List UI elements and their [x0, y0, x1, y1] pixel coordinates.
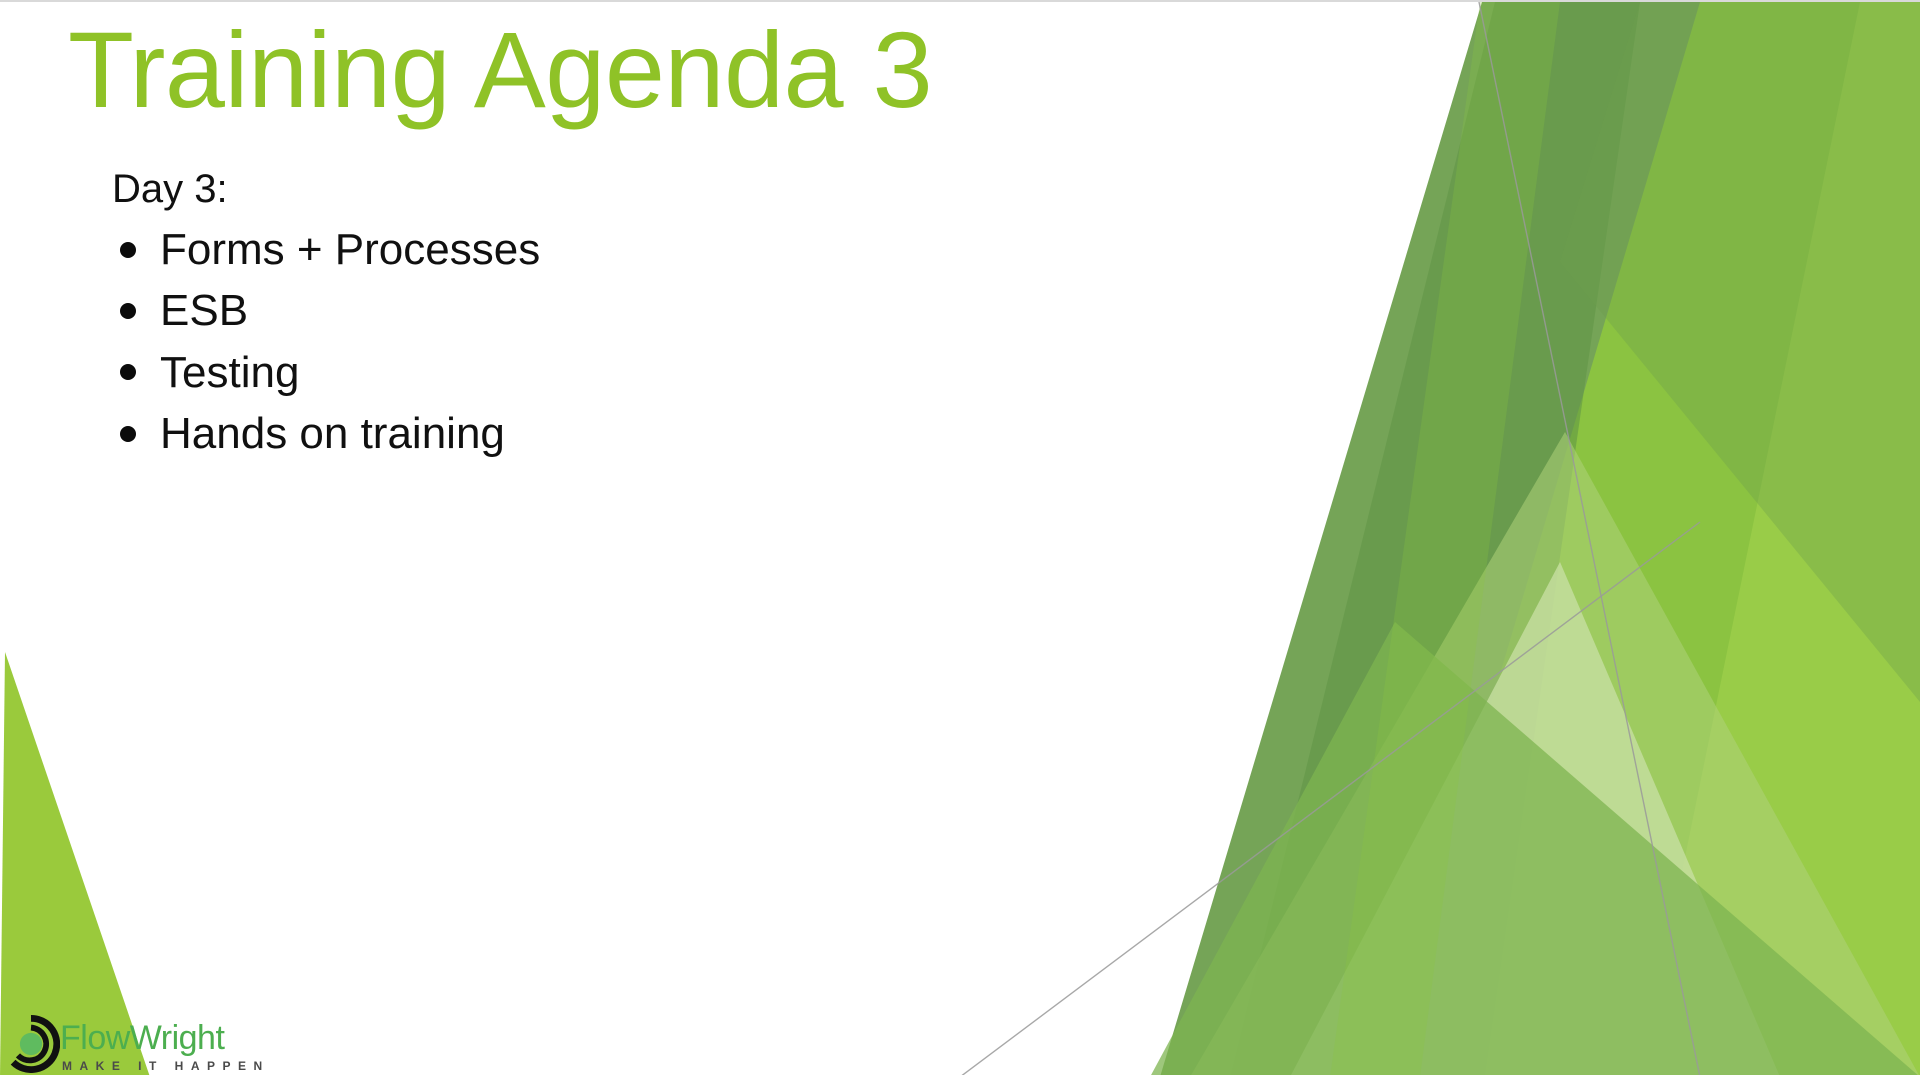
bullet-dot-icon: [120, 426, 136, 442]
list-item: Forms + Processes: [112, 222, 1132, 277]
slide-body: Day 3: Forms + Processes ESB Testing Han…: [112, 165, 1132, 468]
flowwright-logo: FlowWright MAKE IT HAPPEN: [0, 1013, 300, 1075]
list-item: Testing: [112, 345, 1132, 400]
agenda-bullet-list: Forms + Processes ESB Testing Hands on t…: [112, 222, 1132, 462]
right-green-cluster: [1150, 2, 1920, 1075]
list-item-label: Forms + Processes: [160, 225, 540, 274]
presentation-slide: Training Agenda 3 Day 3: Forms + Process…: [0, 0, 1920, 1075]
hairline-lower: [960, 522, 1700, 1075]
hairline-upper: [1479, 2, 1700, 1075]
bullet-dot-icon: [120, 303, 136, 319]
list-item-label: ESB: [160, 286, 248, 335]
flowwright-logo-text: FlowWright: [60, 1021, 224, 1055]
flowwright-logo-mark-icon: [2, 1015, 60, 1073]
left-green-wedge: [0, 652, 150, 1075]
list-item: Hands on training: [112, 406, 1132, 461]
slide-title: Training Agenda 3: [68, 10, 1188, 131]
list-item-label: Hands on training: [160, 409, 505, 458]
bullet-dot-icon: [120, 364, 136, 380]
list-item: ESB: [112, 283, 1132, 338]
bullet-dot-icon: [120, 242, 136, 258]
list-item-label: Testing: [160, 348, 299, 397]
facet-decoration: [0, 2, 1920, 1075]
body-lead-line: Day 3:: [112, 165, 1132, 214]
flowwright-logo-tagline: MAKE IT HAPPEN: [62, 1060, 270, 1072]
